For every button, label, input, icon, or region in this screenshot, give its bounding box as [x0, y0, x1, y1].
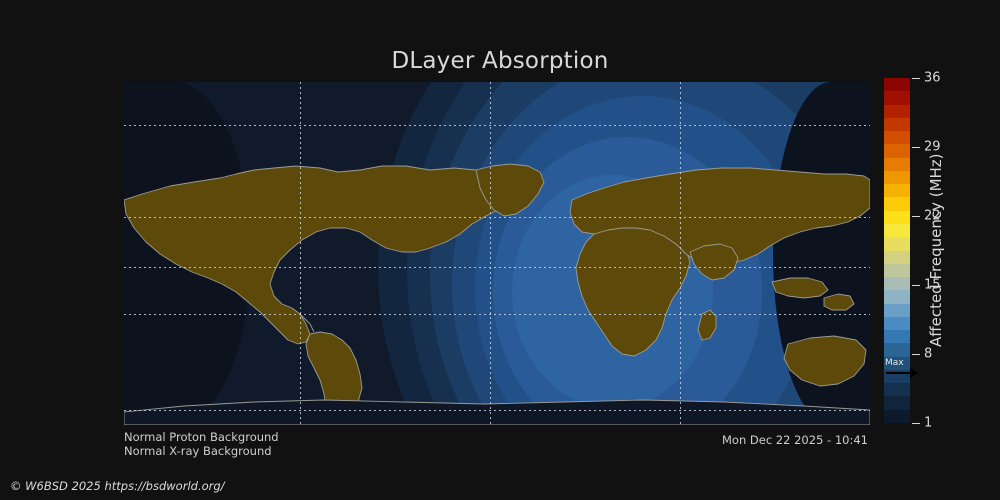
- colorbar-band-24: [884, 91, 910, 104]
- timestamp: Mon Dec 22 2025 - 10:41: [722, 433, 868, 447]
- max-marker-arrow-shaft: [886, 372, 912, 374]
- colorbar-band-13: [884, 237, 910, 250]
- colorbar-band-11: [884, 264, 910, 277]
- colorbar-band-12: [884, 251, 910, 264]
- colorbar-tick-15: [912, 285, 920, 286]
- colorbar-band-25: [884, 78, 910, 91]
- colorbar-band-17: [884, 184, 910, 197]
- colorbar-band-19: [884, 158, 910, 171]
- copyright: © W6BSD 2025 https://bsdworld.org/: [10, 479, 225, 493]
- page-title: DLayer Absorption: [0, 48, 1000, 74]
- xray-status: Normal X-ray Background: [124, 444, 272, 458]
- max-marker-label: Max: [885, 358, 904, 368]
- colorbar-band-18: [884, 171, 910, 184]
- colorbar-band-5: [884, 343, 910, 356]
- colorbar-band-14: [884, 224, 910, 237]
- colorbar-tick-36: [912, 78, 920, 79]
- colorbar-band-22: [884, 118, 910, 131]
- colorbar-band-15: [884, 211, 910, 224]
- colorbar-band-10: [884, 277, 910, 290]
- colorbar-band-20: [884, 144, 910, 157]
- colorbar-axis-label: Affected Frequency (MHz): [925, 78, 947, 423]
- colorbar-band-8: [884, 304, 910, 317]
- colorbar-band-0: [884, 410, 910, 423]
- land-layer: [124, 82, 870, 425]
- world-map[interactable]: [124, 82, 870, 425]
- proton-status: Normal Proton Background: [124, 430, 279, 444]
- colorbar-band-21: [884, 131, 910, 144]
- dlayer-absorption-page: DLayer Absorption: [0, 0, 1000, 500]
- max-marker: Max: [885, 360, 919, 380]
- colorbar-tick-8: [912, 354, 920, 355]
- colorbar-tick-1: [912, 423, 920, 424]
- colorbar-tick-29: [912, 147, 920, 148]
- colorbar-band-1: [884, 396, 910, 409]
- colorbar-band-7: [884, 317, 910, 330]
- colorbar-band-16: [884, 197, 910, 210]
- colorbar-band-6: [884, 330, 910, 343]
- colorbar-band-23: [884, 105, 910, 118]
- max-marker-arrow-head: [910, 368, 918, 378]
- colorbar-tick-22: [912, 216, 920, 217]
- colorbar-band-9: [884, 290, 910, 303]
- colorbar-band-2: [884, 383, 910, 396]
